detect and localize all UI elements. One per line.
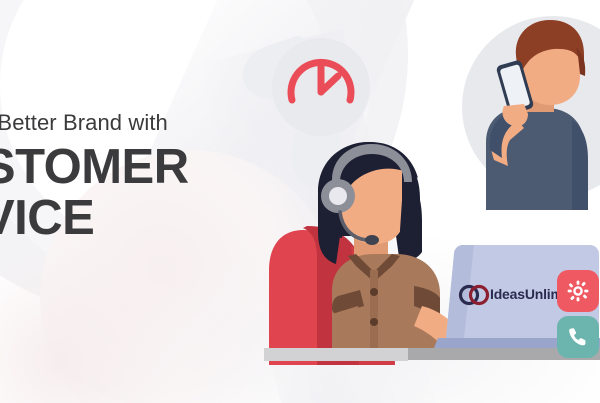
ideasunlimited-logo bbox=[457, 283, 491, 312]
settings-tile[interactable] bbox=[557, 270, 599, 312]
call-tile[interactable] bbox=[557, 316, 599, 358]
logo-word-ideas: Ideas bbox=[490, 286, 525, 302]
desk-surface-left bbox=[264, 348, 408, 361]
logo-rings-icon bbox=[457, 283, 491, 307]
headline-subtitle: ng a Better Brand with bbox=[0, 112, 288, 134]
gear-icon bbox=[566, 279, 590, 303]
app-tile-group bbox=[557, 270, 599, 362]
customer-service-banner: IdeasUnlimited bbox=[0, 0, 600, 403]
headline-title-line-2: RVICE bbox=[0, 195, 288, 242]
headline-title: USTOMER RVICE bbox=[0, 144, 288, 241]
headline-title-line-1: USTOMER bbox=[0, 140, 189, 194]
desk-surface bbox=[264, 348, 600, 361]
phone-icon bbox=[567, 326, 589, 348]
headline-block: ng a Better Brand with USTOMER RVICE bbox=[0, 112, 288, 241]
